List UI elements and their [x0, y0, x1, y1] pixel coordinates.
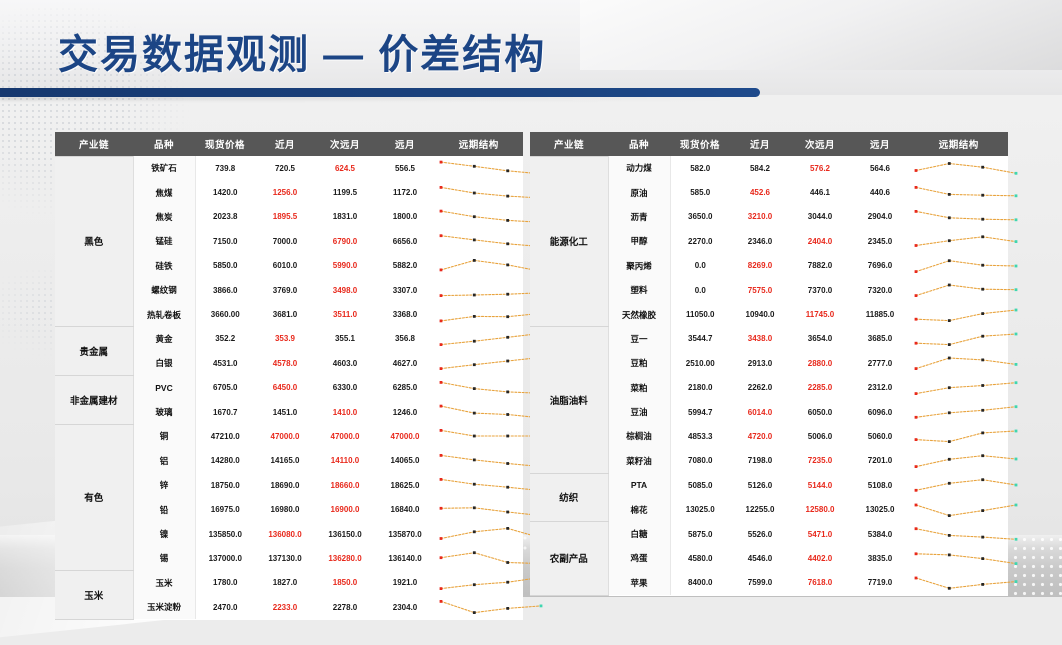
near-month-cell: 2346.0: [730, 229, 790, 253]
far-month-cell: 4627.0: [375, 351, 435, 375]
spot-price-cell: 2510.00: [670, 351, 730, 375]
table-row: 油脂油料豆一3544.73438.03654.03685.0: [530, 327, 1008, 351]
col-header-variety: 品种: [608, 132, 670, 156]
spot-price-cell: 3544.7: [670, 327, 730, 351]
price-structure-table-left: 产业链 品种 现货价格 近月 次远月 远月 远期结构 黑色铁矿石739.8720…: [55, 132, 523, 620]
spot-price-cell: 582.0: [670, 156, 730, 180]
far-month-cell: 3685.0: [850, 327, 910, 351]
next-far-month-cell: 136150.0: [315, 522, 375, 546]
spot-price-cell: 7150.0: [195, 229, 255, 253]
near-month-cell: 5126.0: [730, 473, 790, 497]
price-table-left: 产业链 品种 现货价格 近月 次远月 远月 远期结构 黑色铁矿石739.8720…: [55, 132, 523, 620]
far-month-cell: 7320.0: [850, 278, 910, 302]
table-row: 玉米玉米1780.01827.01850.01921.0: [55, 571, 523, 595]
forward-curve-sparkline: [910, 377, 1022, 399]
near-month-cell: 452.6: [730, 180, 790, 204]
variety-cell: PVC: [133, 376, 195, 400]
next-far-month-cell: 6330.0: [315, 376, 375, 400]
far-month-cell: 47000.0: [375, 424, 435, 448]
variety-cell: 天然橡胶: [608, 302, 670, 326]
spot-price-cell: 2180.0: [670, 376, 730, 400]
col-header-structure: 远期结构: [435, 132, 523, 156]
variety-cell: 玉米淀粉: [133, 595, 195, 619]
spot-price-cell: 1780.0: [195, 571, 255, 595]
near-month-cell: 18690.0: [255, 473, 315, 497]
forward-structure-cell: [910, 424, 1008, 448]
next-far-month-cell: 136280.0: [315, 546, 375, 570]
near-month-cell: 2913.0: [730, 351, 790, 375]
forward-structure-cell: [910, 522, 1008, 546]
forward-structure-cell: [910, 229, 1008, 253]
chain-cell: 玉米: [55, 571, 133, 620]
chain-cell: 非金属建材: [55, 376, 133, 425]
near-month-cell: 8269.0: [730, 254, 790, 278]
near-month-cell: 3210.0: [730, 205, 790, 229]
near-month-cell: 7599.0: [730, 571, 790, 595]
next-far-month-cell: 1850.0: [315, 571, 375, 595]
variety-cell: 焦炭: [133, 205, 195, 229]
next-far-month-cell: 14110.0: [315, 449, 375, 473]
variety-cell: 白糖: [608, 522, 670, 546]
next-far-month-cell: 2404.0: [790, 229, 850, 253]
far-month-cell: 1921.0: [375, 571, 435, 595]
next-far-month-cell: 7882.0: [790, 254, 850, 278]
far-month-cell: 6096.0: [850, 400, 910, 424]
forward-structure-cell: [435, 254, 523, 278]
forward-structure-cell: [435, 571, 523, 595]
near-month-cell: 720.5: [255, 156, 315, 180]
spot-price-cell: 137000.0: [195, 546, 255, 570]
next-far-month-cell: 7235.0: [790, 449, 850, 473]
chain-cell: 有色: [55, 424, 133, 570]
variety-cell: 沥青: [608, 205, 670, 229]
forward-curve-sparkline: [910, 157, 1022, 179]
spot-price-cell: 2270.0: [670, 229, 730, 253]
spot-price-cell: 3660.00: [195, 302, 255, 326]
far-month-cell: 13025.0: [850, 497, 910, 521]
spot-price-cell: 2470.0: [195, 595, 255, 619]
table-body-left: 黑色铁矿石739.8720.5624.5556.5焦煤1420.01256.01…: [55, 156, 523, 619]
near-month-cell: 14165.0: [255, 449, 315, 473]
near-month-cell: 10940.0: [730, 302, 790, 326]
near-month-cell: 12255.0: [730, 497, 790, 521]
near-month-cell: 3769.0: [255, 278, 315, 302]
forward-curve-sparkline: [910, 182, 1022, 204]
variety-cell: 热轧卷板: [133, 302, 195, 326]
variety-cell: 铁矿石: [133, 156, 195, 180]
near-month-cell: 137130.0: [255, 546, 315, 570]
forward-structure-cell: [435, 302, 523, 326]
next-far-month-cell: 4402.0: [790, 546, 850, 570]
forward-structure-cell: [910, 278, 1008, 302]
far-month-cell: 2345.0: [850, 229, 910, 253]
table-header-row: 产业链 品种 现货价格 近月 次远月 远月 远期结构: [530, 132, 1008, 156]
variety-cell: 镍: [133, 522, 195, 546]
variety-cell: 豆粕: [608, 351, 670, 375]
variety-cell: 白银: [133, 351, 195, 375]
variety-cell: 苹果: [608, 571, 670, 595]
col-header-chain: 产业链: [530, 132, 608, 156]
table-header-left: 产业链 品种 现货价格 近月 次远月 远月 远期结构: [55, 132, 523, 156]
next-far-month-cell: 624.5: [315, 156, 375, 180]
near-month-cell: 4546.0: [730, 546, 790, 570]
far-month-cell: 5384.0: [850, 522, 910, 546]
forward-curve-sparkline: [910, 547, 1022, 569]
next-far-month-cell: 11745.0: [790, 302, 850, 326]
spot-price-cell: 5994.7: [670, 400, 730, 424]
forward-structure-cell: [435, 449, 523, 473]
variety-cell: 锡: [133, 546, 195, 570]
next-far-month-cell: 1831.0: [315, 205, 375, 229]
next-far-month-cell: 3044.0: [790, 205, 850, 229]
far-month-cell: 556.5: [375, 156, 435, 180]
table-header-right: 产业链 品种 现货价格 近月 次远月 远月 远期结构: [530, 132, 1008, 156]
next-far-month-cell: 5471.0: [790, 522, 850, 546]
forward-structure-cell: [435, 351, 523, 375]
chain-cell: 农副产品: [530, 522, 608, 595]
price-table-right: 产业链 品种 现货价格 近月 次远月 远月 远期结构 能源化工动力煤582.05…: [530, 132, 1008, 596]
next-far-month-cell: 4603.0: [315, 351, 375, 375]
spot-price-cell: 3650.0: [670, 205, 730, 229]
next-far-month-cell: 3498.0: [315, 278, 375, 302]
far-month-cell: 14065.0: [375, 449, 435, 473]
col-header-m1: 近月: [255, 132, 315, 156]
spot-price-cell: 4853.3: [670, 424, 730, 448]
near-month-cell: 1827.0: [255, 571, 315, 595]
table-row: 能源化工动力煤582.0584.2576.2564.6: [530, 156, 1008, 180]
near-month-cell: 47000.0: [255, 424, 315, 448]
spot-price-cell: 11050.0: [670, 302, 730, 326]
variety-cell: 铜: [133, 424, 195, 448]
far-month-cell: 440.6: [850, 180, 910, 204]
far-month-cell: 2304.0: [375, 595, 435, 619]
far-month-cell: 2777.0: [850, 351, 910, 375]
far-month-cell: 6285.0: [375, 376, 435, 400]
forward-structure-cell: [435, 424, 523, 448]
chain-cell: 纺织: [530, 473, 608, 522]
forward-structure-cell: [910, 351, 1008, 375]
far-month-cell: 3307.0: [375, 278, 435, 302]
variety-cell: 黄金: [133, 327, 195, 351]
next-far-month-cell: 12580.0: [790, 497, 850, 521]
far-month-cell: 18625.0: [375, 473, 435, 497]
far-month-cell: 6656.0: [375, 229, 435, 253]
spot-price-cell: 585.0: [670, 180, 730, 204]
col-header-spot: 现货价格: [670, 132, 730, 156]
spot-price-cell: 14280.0: [195, 449, 255, 473]
forward-structure-cell: [435, 595, 523, 619]
col-header-variety: 品种: [133, 132, 195, 156]
col-header-structure: 远期结构: [910, 132, 1008, 156]
forward-curve-sparkline: [910, 401, 1022, 423]
near-month-cell: 2262.0: [730, 376, 790, 400]
variety-cell: 菜粕: [608, 376, 670, 400]
forward-structure-cell: [910, 205, 1008, 229]
near-month-cell: 4720.0: [730, 424, 790, 448]
spot-price-cell: 5850.0: [195, 254, 255, 278]
near-month-cell: 3681.0: [255, 302, 315, 326]
spot-price-cell: 5085.0: [670, 473, 730, 497]
near-month-cell: 353.9: [255, 327, 315, 351]
near-month-cell: 5526.0: [730, 522, 790, 546]
forward-structure-cell: [435, 278, 523, 302]
table-row: 纺织PTA5085.05126.05144.05108.0: [530, 473, 1008, 497]
far-month-cell: 5108.0: [850, 473, 910, 497]
tables-panel: 产业链 品种 现货价格 近月 次远月 远月 远期结构 黑色铁矿石739.8720…: [0, 0, 1062, 597]
variety-cell: 锌: [133, 473, 195, 497]
variety-cell: 菜籽油: [608, 449, 670, 473]
far-month-cell: 5882.0: [375, 254, 435, 278]
next-far-month-cell: 5144.0: [790, 473, 850, 497]
near-month-cell: 1256.0: [255, 180, 315, 204]
far-month-cell: 7696.0: [850, 254, 910, 278]
forward-structure-cell: [910, 497, 1008, 521]
variety-cell: 棕榈油: [608, 424, 670, 448]
next-far-month-cell: 1199.5: [315, 180, 375, 204]
col-header-m3: 远月: [375, 132, 435, 156]
forward-curve-sparkline: [910, 279, 1022, 301]
table-row: 贵金属黄金352.2353.9355.1356.8: [55, 327, 523, 351]
far-month-cell: 16840.0: [375, 497, 435, 521]
forward-curve-sparkline: [910, 425, 1022, 447]
forward-structure-cell: [910, 546, 1008, 570]
col-header-m3: 远月: [850, 132, 910, 156]
variety-cell: 聚丙烯: [608, 254, 670, 278]
next-far-month-cell: 5006.0: [790, 424, 850, 448]
forward-curve-sparkline: [910, 572, 1022, 594]
next-far-month-cell: 1410.0: [315, 400, 375, 424]
spot-price-cell: 18750.0: [195, 473, 255, 497]
variety-cell: 螺纹钢: [133, 278, 195, 302]
forward-structure-cell: [910, 156, 1008, 180]
table-row: 黑色铁矿石739.8720.5624.5556.5: [55, 156, 523, 180]
spot-price-cell: 13025.0: [670, 497, 730, 521]
next-far-month-cell: 446.1: [790, 180, 850, 204]
far-month-cell: 7201.0: [850, 449, 910, 473]
near-month-cell: 4578.0: [255, 351, 315, 375]
near-month-cell: 3438.0: [730, 327, 790, 351]
spot-price-cell: 4531.0: [195, 351, 255, 375]
chain-cell: 能源化工: [530, 156, 608, 327]
spot-price-cell: 8400.0: [670, 571, 730, 595]
near-month-cell: 7000.0: [255, 229, 315, 253]
next-far-month-cell: 7370.0: [790, 278, 850, 302]
far-month-cell: 3835.0: [850, 546, 910, 570]
forward-structure-cell: [435, 156, 523, 180]
forward-curve-sparkline: [910, 474, 1022, 496]
far-month-cell: 2904.0: [850, 205, 910, 229]
spot-price-cell: 0.0: [670, 278, 730, 302]
variety-cell: 铝: [133, 449, 195, 473]
forward-curve-sparkline: [910, 523, 1022, 545]
next-far-month-cell: 2278.0: [315, 595, 375, 619]
col-header-m2: 次远月: [315, 132, 375, 156]
near-month-cell: 7575.0: [730, 278, 790, 302]
forward-curve-sparkline: [910, 255, 1022, 277]
next-far-month-cell: 47000.0: [315, 424, 375, 448]
forward-structure-cell: [435, 327, 523, 351]
next-far-month-cell: 6050.0: [790, 400, 850, 424]
variety-cell: 锰硅: [133, 229, 195, 253]
table-header-row: 产业链 品种 现货价格 近月 次远月 远月 远期结构: [55, 132, 523, 156]
variety-cell: 铅: [133, 497, 195, 521]
next-far-month-cell: 7618.0: [790, 571, 850, 595]
near-month-cell: 1451.0: [255, 400, 315, 424]
forward-structure-cell: [910, 327, 1008, 351]
forward-structure-cell: [910, 302, 1008, 326]
forward-structure-cell: [910, 376, 1008, 400]
far-month-cell: 1172.0: [375, 180, 435, 204]
forward-structure-cell: [435, 229, 523, 253]
col-header-m2: 次远月: [790, 132, 850, 156]
near-month-cell: 6014.0: [730, 400, 790, 424]
near-month-cell: 6450.0: [255, 376, 315, 400]
chain-cell: 黑色: [55, 156, 133, 327]
next-far-month-cell: 5990.0: [315, 254, 375, 278]
variety-cell: 豆油: [608, 400, 670, 424]
forward-curve-sparkline: [435, 596, 547, 618]
forward-structure-cell: [910, 254, 1008, 278]
forward-curve-sparkline: [910, 328, 1022, 350]
forward-structure-cell: [910, 400, 1008, 424]
spot-price-cell: 3866.0: [195, 278, 255, 302]
forward-curve-sparkline: [910, 499, 1022, 521]
far-month-cell: 1246.0: [375, 400, 435, 424]
next-far-month-cell: 2285.0: [790, 376, 850, 400]
forward-structure-cell: [435, 180, 523, 204]
page-title: 交易数据观测 — 价差结构: [58, 22, 546, 80]
far-month-cell: 356.8: [375, 327, 435, 351]
next-far-month-cell: 2880.0: [790, 351, 850, 375]
forward-structure-cell: [435, 473, 523, 497]
near-month-cell: 1895.5: [255, 205, 315, 229]
forward-curve-sparkline: [910, 450, 1022, 472]
near-month-cell: 7198.0: [730, 449, 790, 473]
far-month-cell: 136140.0: [375, 546, 435, 570]
col-header-chain: 产业链: [55, 132, 133, 156]
far-month-cell: 5060.0: [850, 424, 910, 448]
variety-cell: 豆一: [608, 327, 670, 351]
variety-cell: 玻璃: [133, 400, 195, 424]
variety-cell: 动力煤: [608, 156, 670, 180]
far-month-cell: 3368.0: [375, 302, 435, 326]
forward-structure-cell: [435, 205, 523, 229]
next-far-month-cell: 6790.0: [315, 229, 375, 253]
forward-curve-sparkline: [910, 352, 1022, 374]
variety-cell: PTA: [608, 473, 670, 497]
variety-cell: 焦煤: [133, 180, 195, 204]
col-header-spot: 现货价格: [195, 132, 255, 156]
near-month-cell: 584.2: [730, 156, 790, 180]
spot-price-cell: 2023.8: [195, 205, 255, 229]
table-body-right: 能源化工动力煤582.0584.2576.2564.6原油585.0452.64…: [530, 156, 1008, 595]
variety-cell: 玉米: [133, 571, 195, 595]
spot-price-cell: 1420.0: [195, 180, 255, 204]
variety-cell: 原油: [608, 180, 670, 204]
near-month-cell: 136080.0: [255, 522, 315, 546]
spot-price-cell: 6705.0: [195, 376, 255, 400]
next-far-month-cell: 576.2: [790, 156, 850, 180]
spot-price-cell: 47210.0: [195, 424, 255, 448]
far-month-cell: 1800.0: [375, 205, 435, 229]
spot-price-cell: 352.2: [195, 327, 255, 351]
near-month-cell: 2233.0: [255, 595, 315, 619]
chain-cell: 油脂油料: [530, 327, 608, 473]
forward-structure-cell: [435, 497, 523, 521]
forward-structure-cell: [435, 376, 523, 400]
spot-price-cell: 7080.0: [670, 449, 730, 473]
variety-cell: 鸡蛋: [608, 546, 670, 570]
forward-structure-cell: [435, 522, 523, 546]
spot-price-cell: 0.0: [670, 254, 730, 278]
spot-price-cell: 135850.0: [195, 522, 255, 546]
spot-price-cell: 5875.0: [670, 522, 730, 546]
near-month-cell: 16980.0: [255, 497, 315, 521]
forward-curve-sparkline: [910, 206, 1022, 228]
next-far-month-cell: 16900.0: [315, 497, 375, 521]
next-far-month-cell: 18660.0: [315, 473, 375, 497]
table-row: 农副产品白糖5875.05526.05471.05384.0: [530, 522, 1008, 546]
table-row: 非金属建材PVC6705.06450.06330.06285.0: [55, 376, 523, 400]
far-month-cell: 2312.0: [850, 376, 910, 400]
forward-curve-sparkline: [910, 304, 1022, 326]
spot-price-cell: 739.8: [195, 156, 255, 180]
chain-cell: 贵金属: [55, 327, 133, 376]
variety-cell: 硅铁: [133, 254, 195, 278]
variety-cell: 甲醇: [608, 229, 670, 253]
forward-structure-cell: [910, 449, 1008, 473]
next-far-month-cell: 355.1: [315, 327, 375, 351]
forward-structure-cell: [910, 473, 1008, 497]
col-header-m1: 近月: [730, 132, 790, 156]
spot-price-cell: 4580.0: [670, 546, 730, 570]
far-month-cell: 564.6: [850, 156, 910, 180]
forward-curve-sparkline: [910, 230, 1022, 252]
price-structure-table-right: 产业链 品种 现货价格 近月 次远月 远月 远期结构 能源化工动力煤582.05…: [530, 132, 1008, 596]
forward-structure-cell: [910, 180, 1008, 204]
variety-cell: 塑料: [608, 278, 670, 302]
variety-cell: 棉花: [608, 497, 670, 521]
far-month-cell: 11885.0: [850, 302, 910, 326]
far-month-cell: 7719.0: [850, 571, 910, 595]
far-month-cell: 135870.0: [375, 522, 435, 546]
near-month-cell: 6010.0: [255, 254, 315, 278]
forward-structure-cell: [435, 400, 523, 424]
table-row: 有色铜47210.047000.047000.047000.0: [55, 424, 523, 448]
forward-structure-cell: [435, 546, 523, 570]
forward-structure-cell: [910, 571, 1008, 595]
spot-price-cell: 16975.0: [195, 497, 255, 521]
next-far-month-cell: 3654.0: [790, 327, 850, 351]
next-far-month-cell: 3511.0: [315, 302, 375, 326]
spot-price-cell: 1670.7: [195, 400, 255, 424]
